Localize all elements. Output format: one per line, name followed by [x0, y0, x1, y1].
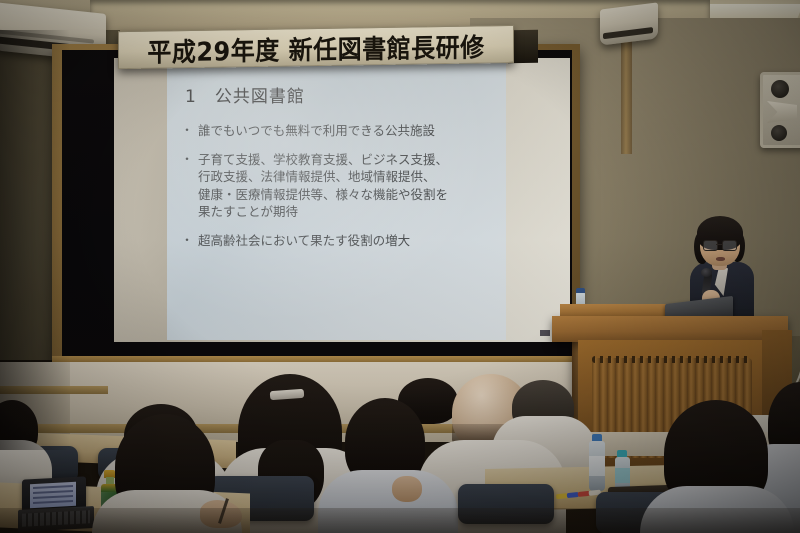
podium-slat-caps [592, 356, 752, 363]
air-conditioner-right [600, 2, 658, 45]
bullet-line: 誰でもいつでも無料で利用できる公共施設 [198, 123, 435, 138]
podium-top [552, 316, 788, 342]
slide-title: 1 公共図書館 [185, 82, 305, 107]
bullet-line: 健康・医療情報提供等、様々な機能や役割を [198, 187, 448, 202]
foreground-shadow [0, 508, 800, 533]
wall-rail-upper [0, 386, 108, 394]
wood-pillar-right [621, 34, 632, 154]
glasses-icon [703, 240, 737, 249]
microphone-head-icon [701, 268, 712, 277]
bullet-line: 超高齢社会において果たす役割の増大 [198, 233, 410, 248]
pa-speaker-icon [760, 72, 800, 148]
bullet-marker: ・ [181, 151, 193, 221]
bullet-marker: ・ [181, 232, 193, 250]
bottle-label [589, 456, 605, 476]
bottle-label [615, 468, 630, 483]
bullet-marker: ・ [181, 122, 193, 140]
bullet-line: 果たすことが期待 [198, 204, 298, 219]
audience-hand [392, 476, 422, 502]
slide-bullet-list: ・ 誰でもいつでも無料で利用できる公共施設 ・ 子育て支援、学校教育支援、ビジネ… [181, 122, 493, 260]
bottle-cap [617, 450, 627, 457]
banner-title: 平成29年度 新任図書館長研修 [147, 25, 484, 68]
bullet-line: 子育て支援、学校教育支援、ビジネス支援、 [198, 152, 448, 167]
event-banner: 平成29年度 新任図書館長研修 [118, 25, 514, 69]
terminal-lcd-text [33, 485, 73, 505]
slide-bullet-3: ・ 超高齢社会において果たす役割の増大 [181, 232, 493, 250]
lecture-hall-photo: 1 公共図書館 ・ 誰でもいつでも無料で利用できる公共施設 ・ 子育て支援、学校… [0, 0, 800, 533]
presentation-slide: 1 公共図書館 ・ 誰でもいつでも無料で利用できる公共施設 ・ 子育て支援、学校… [167, 60, 506, 340]
bullet-line: 行政支援、法律情報提供、地域情報提供、 [198, 169, 436, 184]
presenter-mouth [716, 257, 725, 261]
bottle-cap [592, 434, 602, 441]
screen-bracket [540, 330, 550, 336]
bottle-cap [576, 288, 585, 293]
slide-bullet-2: ・ 子育て支援、学校教育支援、ビジネス支援、 行政支援、法律情報提供、地域情報提… [181, 151, 493, 221]
slide-bullet-1: ・ 誰でもいつでも無料で利用できる公共施設 [181, 122, 493, 140]
